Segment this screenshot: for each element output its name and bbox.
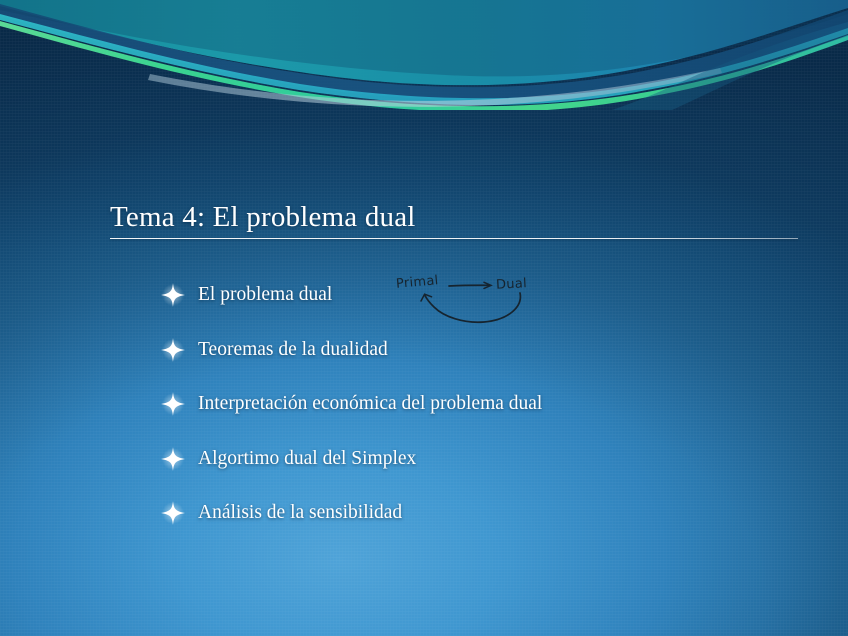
- sparkle-star-icon: [160, 500, 186, 526]
- title-block: Tema 4: El problema dual: [110, 200, 800, 239]
- list-item[interactable]: Análisis de la sensibilidad: [160, 486, 800, 541]
- sparkle-star-icon: [160, 391, 186, 417]
- sparkle-star-icon: [160, 282, 186, 308]
- presentation-slide: Tema 4: El problema dual El problema dua…: [0, 0, 848, 636]
- page-title: Tema 4: El problema dual: [110, 200, 800, 234]
- list-item-label: Teoremas de la dualidad: [198, 339, 388, 361]
- list-item[interactable]: Algortimo dual del Simplex: [160, 432, 800, 487]
- list-item-label: Algortimo dual del Simplex: [198, 448, 416, 470]
- curved-arrow-left-icon: [421, 293, 520, 322]
- list-item[interactable]: Interpretación económica del problema du…: [160, 377, 800, 432]
- straight-arrow-right-icon: [449, 282, 491, 288]
- decorative-wave-header: [0, 0, 848, 110]
- sparkle-star-icon: [160, 337, 186, 363]
- title-underline-rule: [110, 238, 798, 239]
- list-item-label: El problema dual: [198, 284, 332, 306]
- handwritten-annotation: Primal Dual: [392, 264, 552, 336]
- list-item-label: Interpretación económica del problema du…: [198, 393, 542, 415]
- sparkle-star-icon: [160, 446, 186, 472]
- list-item-label: Análisis de la sensibilidad: [198, 502, 402, 524]
